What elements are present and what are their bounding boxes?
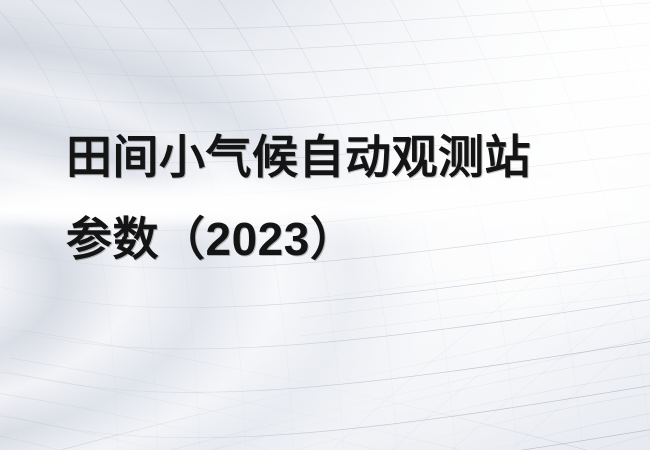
slide-title-line-1: 田间小气候自动观测站 bbox=[66, 128, 626, 186]
title-slide: 田间小气候自动观测站 参数（2023） bbox=[0, 0, 650, 450]
slide-title-line-2: 参数（2023） bbox=[66, 210, 626, 268]
slide-title-block: 田间小气候自动观测站 参数（2023） bbox=[66, 128, 626, 268]
